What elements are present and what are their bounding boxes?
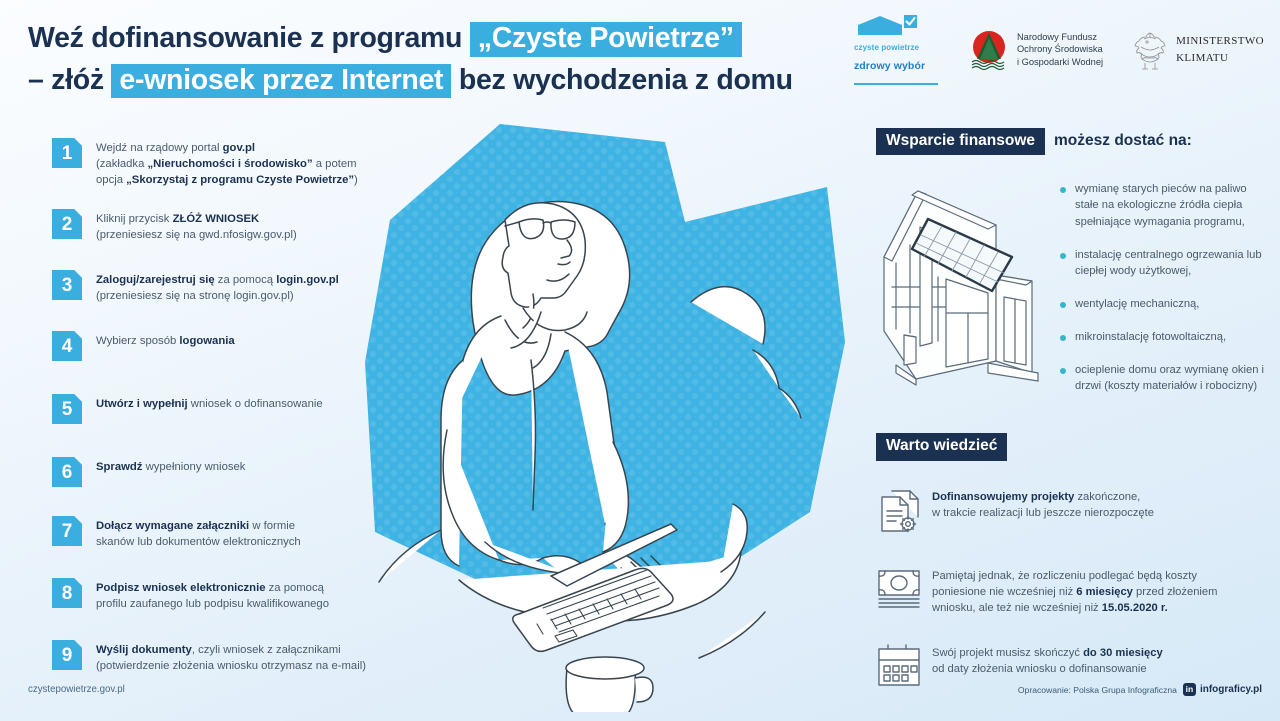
bullet-text: mikroinstalację fotowoltaiczną, xyxy=(1075,329,1226,345)
bullet-text: ocieplenie domu oraz wymianę okien i drz… xyxy=(1075,362,1266,394)
step-item: 3 Zaloguj/zarejestruj się za pomocą logi… xyxy=(52,270,382,322)
bullet-dot-icon xyxy=(1060,368,1066,374)
bullet-text: instalację centralnego ogrzewania lub ci… xyxy=(1075,247,1266,279)
logo-ministerstwo-text: MINISTERSTWO KLIMATU xyxy=(1176,33,1264,66)
right-column: Wsparcie finansowe możesz dostać na: xyxy=(876,128,1266,718)
infograficy-mark-icon: in xyxy=(1183,683,1196,696)
bullet-dot-icon xyxy=(1060,187,1066,193)
title-prefix-text: – złóż xyxy=(28,64,104,96)
infograficy-brand-text: infograficy.pl xyxy=(1200,684,1262,695)
logo-cp-rule xyxy=(854,83,938,86)
warto-text: Swój projekt musisz skończyć do 30 miesi… xyxy=(932,641,1163,678)
house-illustration-wrap xyxy=(876,179,1054,411)
nfosigw-emblem-icon xyxy=(968,29,1010,71)
title-main-text: Weź dofinansowanie z programu xyxy=(28,22,462,54)
calendar-icon xyxy=(876,641,932,694)
step-item: 1 Wejdź na rządowy portal gov.pl(zakładk… xyxy=(52,138,382,200)
page-header: Weź dofinansowanie z programu „Czyste Po… xyxy=(0,0,1280,112)
support-section-body: wymianę starych pieców na paliwo stałe n… xyxy=(876,179,1266,411)
banknote-icon xyxy=(876,564,932,615)
warto-section-heading: Warto wiedzieć xyxy=(876,433,1266,460)
logo-group: czyste powietrze zdrowy wybór Narodowy F… xyxy=(854,14,1264,85)
title-highlight-czyste-powietrze: „Czyste Powietrze” xyxy=(470,22,742,57)
support-tag: Wsparcie finansowe xyxy=(876,128,1045,155)
infograficy-logo[interactable]: in infograficy.pl xyxy=(1183,683,1262,696)
title-highlight-e-wniosek: e-wniosek przez Internet xyxy=(111,64,451,99)
title-line-2: – złóż e-wniosek przez Internet bez wych… xyxy=(28,64,858,99)
page-title: Weź dofinansowanie z programu „Czyste Po… xyxy=(28,22,858,98)
warto-item: Pamiętaj jednak, że rozliczeniu podlegać… xyxy=(876,564,1266,617)
logo-nfosigw: Narodowy Fundusz Ochrony Środowiska i Go… xyxy=(968,29,1103,71)
bullet-dot-icon xyxy=(1060,253,1066,259)
polish-eagle-icon xyxy=(1131,29,1169,71)
step-text: Wejdź na rządowy portal gov.pl(zakładka … xyxy=(96,138,358,188)
bullet-text: wentylację mechaniczną, xyxy=(1075,296,1199,312)
support-section-heading: Wsparcie finansowe możesz dostać na: xyxy=(876,128,1266,155)
warto-item-list: Dofinansowujemy projekty zakończone,w tr… xyxy=(876,485,1266,694)
logo-nfos-line2: Ochrony Środowiska xyxy=(1017,43,1103,55)
step-item: 7 Dołącz wymagane załączniki w formieska… xyxy=(52,516,382,569)
step-item: 4 Wybierz sposób logowania xyxy=(52,331,382,385)
logo-ministerstwo-klimatu: MINISTERSTWO KLIMATU xyxy=(1131,29,1264,71)
logo-czyste-powietrze: czyste powietrze zdrowy wybór xyxy=(854,14,940,85)
bullet-item: wymianę starych pieców na paliwo stałe n… xyxy=(1060,181,1266,229)
step-item: 5 Utwórz i wypełnij wniosek o dofinansow… xyxy=(52,394,382,448)
logo-cp-line1: czyste powietrze xyxy=(854,43,919,53)
step-text: Sprawdź wypełniony wniosek xyxy=(96,457,245,475)
bullet-item: wentylację mechaniczną, xyxy=(1060,296,1266,312)
step-number-badge: 8 xyxy=(52,578,82,608)
step-item: 8 Podpisz wniosek elektronicznie za pomo… xyxy=(52,578,382,631)
bullet-text: wymianę starych pieców na paliwo stałe n… xyxy=(1075,181,1266,229)
step-item: 2 Kliknij przycisk ZŁÓŻ WNIOSEK(przenies… xyxy=(52,209,382,261)
warto-section: Warto wiedzieć Dofinansowujem xyxy=(876,433,1266,693)
step-number-badge: 7 xyxy=(52,516,82,546)
step-number-badge: 4 xyxy=(52,331,82,361)
support-bullet-list: wymianę starych pieców na paliwo stałe n… xyxy=(1054,179,1266,411)
bullet-dot-icon xyxy=(1060,302,1066,308)
step-number-badge: 3 xyxy=(52,270,82,300)
step-number-badge: 2 xyxy=(52,209,82,239)
logo-min-line2: KLIMATU xyxy=(1176,50,1264,67)
footer-credit-text: Opracowanie: Polska Grupa Infograficzna xyxy=(1018,685,1177,695)
house-solar-panel-icon xyxy=(876,183,1048,393)
house-check-icon xyxy=(854,14,938,36)
step-text: Zaloguj/zarejestruj się za pomocą login.… xyxy=(96,270,339,304)
bullet-item: instalację centralnego ogrzewania lub ci… xyxy=(1060,247,1266,279)
step-text: Wyślij dokumenty, czyli wniosek z załącz… xyxy=(96,640,366,674)
step-text: Kliknij przycisk ZŁÓŻ WNIOSEK(przeniesie… xyxy=(96,209,297,243)
step-number-badge: 5 xyxy=(52,394,82,424)
title-suffix-text: bez wychodzenia z domu xyxy=(459,64,793,96)
support-subtitle: możesz dostać na: xyxy=(1054,132,1192,150)
document-gear-icon xyxy=(876,485,932,540)
bullet-item: mikroinstalację fotowoltaiczną, xyxy=(1060,329,1266,345)
warto-tag: Warto wiedzieć xyxy=(876,433,1007,460)
bullet-dot-icon xyxy=(1060,335,1066,341)
step-number-badge: 1 xyxy=(52,138,82,168)
logo-cp-line2: zdrowy wybór xyxy=(854,60,925,73)
logo-nfos-line1: Narodowy Fundusz xyxy=(1017,31,1103,43)
logo-nfosigw-text: Narodowy Fundusz Ochrony Środowiska i Go… xyxy=(1017,31,1103,68)
logo-nfos-line3: i Gospodarki Wodnej xyxy=(1017,56,1103,68)
warto-text: Pamiętaj jednak, że rozliczeniu podlegać… xyxy=(932,564,1217,617)
warto-item: Dofinansowujemy projekty zakończone,w tr… xyxy=(876,485,1266,540)
illustration-woman-with-laptop xyxy=(355,112,875,712)
step-text: Podpisz wniosek elektronicznie za pomocą… xyxy=(96,578,329,612)
warto-text: Dofinansowujemy projekty zakończone,w tr… xyxy=(932,485,1154,522)
step-text: Wybierz sposób logowania xyxy=(96,331,235,349)
step-text: Dołącz wymagane załączniki w formieskanó… xyxy=(96,516,301,550)
step-number-badge: 6 xyxy=(52,457,82,487)
step-text: Utwórz i wypełnij wniosek o dofinansowan… xyxy=(96,394,323,412)
illustration-svg xyxy=(355,112,875,712)
logo-min-line1: MINISTERSTWO xyxy=(1176,33,1264,50)
step-number-badge: 9 xyxy=(52,640,82,670)
title-line-1: Weź dofinansowanie z programu „Czyste Po… xyxy=(28,22,858,57)
footer-site-url[interactable]: czystepowietrze.gov.pl xyxy=(28,684,125,695)
step-item: 9 Wyślij dokumenty, czyli wniosek z załą… xyxy=(52,640,382,674)
bullet-item: ocieplenie domu oraz wymianę okien i drz… xyxy=(1060,362,1266,394)
steps-list: 1 Wejdź na rządowy portal gov.pl(zakładk… xyxy=(52,138,382,683)
step-item: 6 Sprawdź wypełniony wniosek xyxy=(52,457,382,507)
footer-credit: Opracowanie: Polska Grupa Infograficzna … xyxy=(1018,683,1262,696)
